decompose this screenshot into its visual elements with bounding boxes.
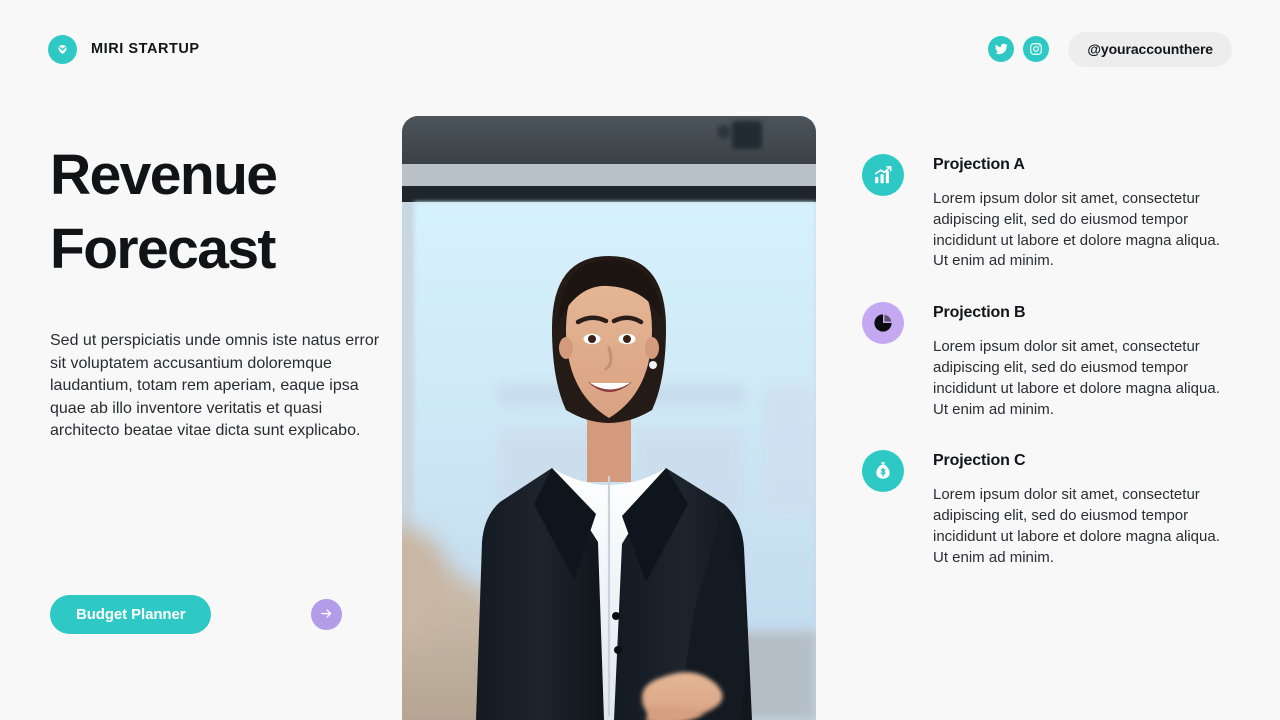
twitter-icon[interactable] bbox=[988, 36, 1014, 62]
list-item[interactable]: Projection C Lorem ipsum dolor sit amet,… bbox=[862, 448, 1234, 568]
account-handle[interactable]: @youraccounthere bbox=[1068, 32, 1232, 67]
list-item-text: Lorem ipsum dolor sit amet, consectetur … bbox=[933, 189, 1234, 272]
list-item-text: Lorem ipsum dolor sit amet, consectetur … bbox=[933, 337, 1234, 420]
hero-text-column: Revenue Forecast Sed ut perspiciatis und… bbox=[50, 138, 380, 443]
headline-line-2: Forecast bbox=[50, 217, 275, 281]
hero-paragraph: Sed ut perspiciatis unde omnis iste natu… bbox=[50, 330, 380, 443]
presenter-photo-illustration bbox=[402, 116, 816, 720]
cta-row: Budget Planner bbox=[50, 595, 342, 634]
page-header: MIRI STARTUP @youraccounthere bbox=[0, 0, 1280, 126]
list-item-title: Projection C bbox=[933, 452, 1234, 470]
list-item-body: Projection B Lorem ipsum dolor sit amet,… bbox=[933, 300, 1234, 420]
list-item-title: Projection A bbox=[933, 156, 1234, 174]
list-item[interactable]: Projection B Lorem ipsum dolor sit amet,… bbox=[862, 300, 1234, 420]
budget-planner-button[interactable]: Budget Planner bbox=[50, 595, 211, 634]
chevron-badge-icon bbox=[48, 35, 77, 64]
bar-chart-growth-icon bbox=[862, 154, 904, 196]
list-item-body: Projection C Lorem ipsum dolor sit amet,… bbox=[933, 448, 1234, 568]
brand-name: MIRI STARTUP bbox=[91, 41, 200, 57]
list-item-body: Projection A Lorem ipsum dolor sit amet,… bbox=[933, 152, 1234, 272]
headline-line-1: Revenue bbox=[50, 143, 276, 207]
header-right: @youraccounthere bbox=[988, 32, 1232, 67]
page-title: Revenue Forecast bbox=[50, 138, 380, 286]
instagram-icon[interactable] bbox=[1023, 36, 1049, 62]
list-item-title: Projection B bbox=[933, 304, 1234, 322]
money-bag-icon bbox=[862, 450, 904, 492]
next-slide-button[interactable] bbox=[311, 599, 342, 630]
pie-chart-icon bbox=[862, 302, 904, 344]
list-item[interactable]: Projection A Lorem ipsum dolor sit amet,… bbox=[862, 152, 1234, 272]
presenter-photo bbox=[402, 116, 816, 720]
brand[interactable]: MIRI STARTUP bbox=[48, 35, 200, 64]
list-item-text: Lorem ipsum dolor sit amet, consectetur … bbox=[933, 485, 1234, 568]
arrow-right-icon bbox=[319, 606, 334, 624]
projections-list: Projection A Lorem ipsum dolor sit amet,… bbox=[862, 152, 1234, 569]
